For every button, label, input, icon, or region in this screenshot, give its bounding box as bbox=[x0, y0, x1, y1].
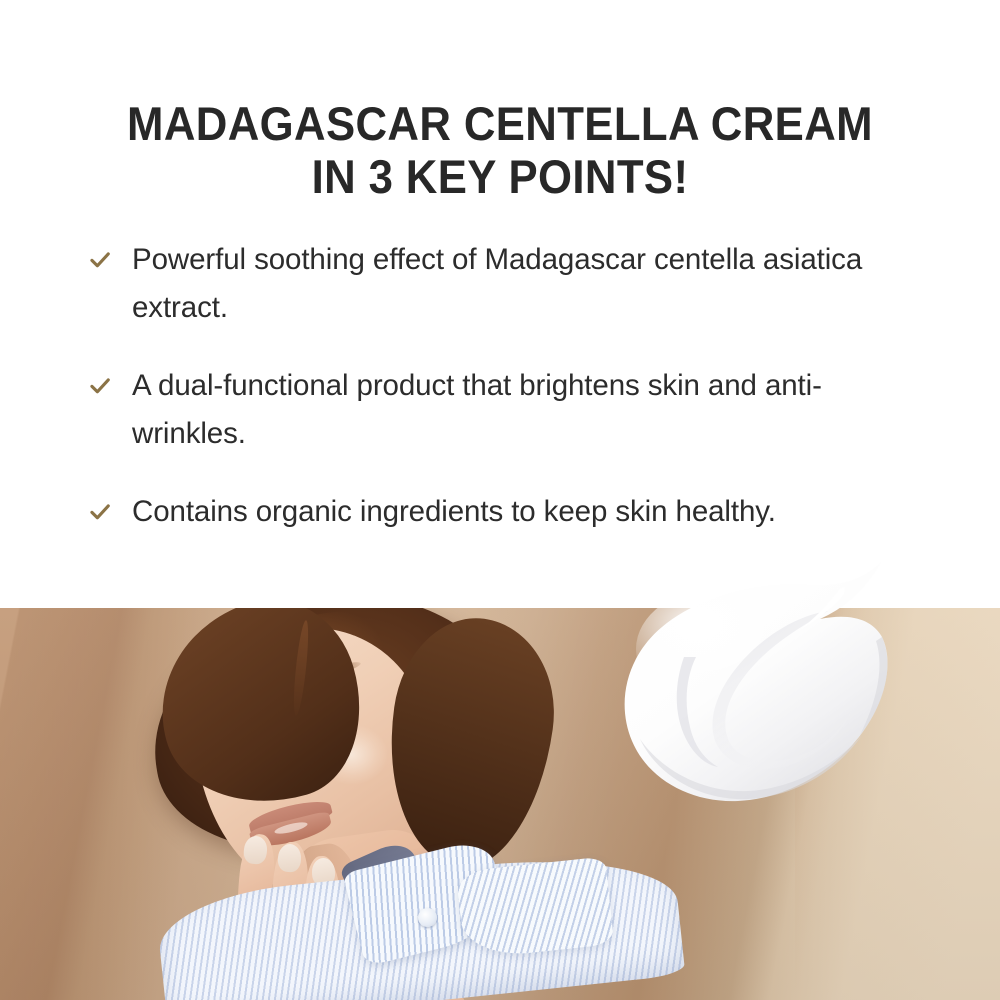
headline-line-1: MADAGASCAR CENTELLA CREAM bbox=[35, 97, 965, 150]
list-item-label: Contains organic ingredients to keep ski… bbox=[132, 488, 932, 536]
model-shirt-button bbox=[418, 908, 437, 927]
model-collar-right bbox=[456, 856, 614, 959]
list-item: Contains organic ingredients to keep ski… bbox=[86, 488, 932, 536]
model-shirt bbox=[160, 846, 720, 996]
product-detail-page: MADAGASCAR CENTELLA CREAM IN 3 KEY POINT… bbox=[0, 0, 1000, 1000]
key-points-text-panel: MADAGASCAR CENTELLA CREAM IN 3 KEY POINT… bbox=[0, 0, 1000, 608]
check-icon bbox=[89, 375, 111, 397]
key-points-list: Powerful soothing effect of Madagascar c… bbox=[86, 236, 932, 536]
model-figure bbox=[60, 608, 580, 1000]
list-item-label: Powerful soothing effect of Madagascar c… bbox=[132, 236, 932, 332]
headline-line-2: IN 3 KEY POINTS! bbox=[35, 150, 965, 203]
check-icon bbox=[89, 249, 111, 271]
page-title: MADAGASCAR CENTELLA CREAM IN 3 KEY POINT… bbox=[35, 97, 965, 203]
check-icon bbox=[89, 501, 111, 523]
photo-backdrop-edge bbox=[795, 608, 1000, 1000]
list-item: A dual-functional product that brightens… bbox=[86, 362, 932, 458]
list-item: Powerful soothing effect of Madagascar c… bbox=[86, 236, 932, 332]
model-photo bbox=[0, 608, 1000, 1000]
list-item-label: A dual-functional product that brightens… bbox=[132, 362, 932, 458]
